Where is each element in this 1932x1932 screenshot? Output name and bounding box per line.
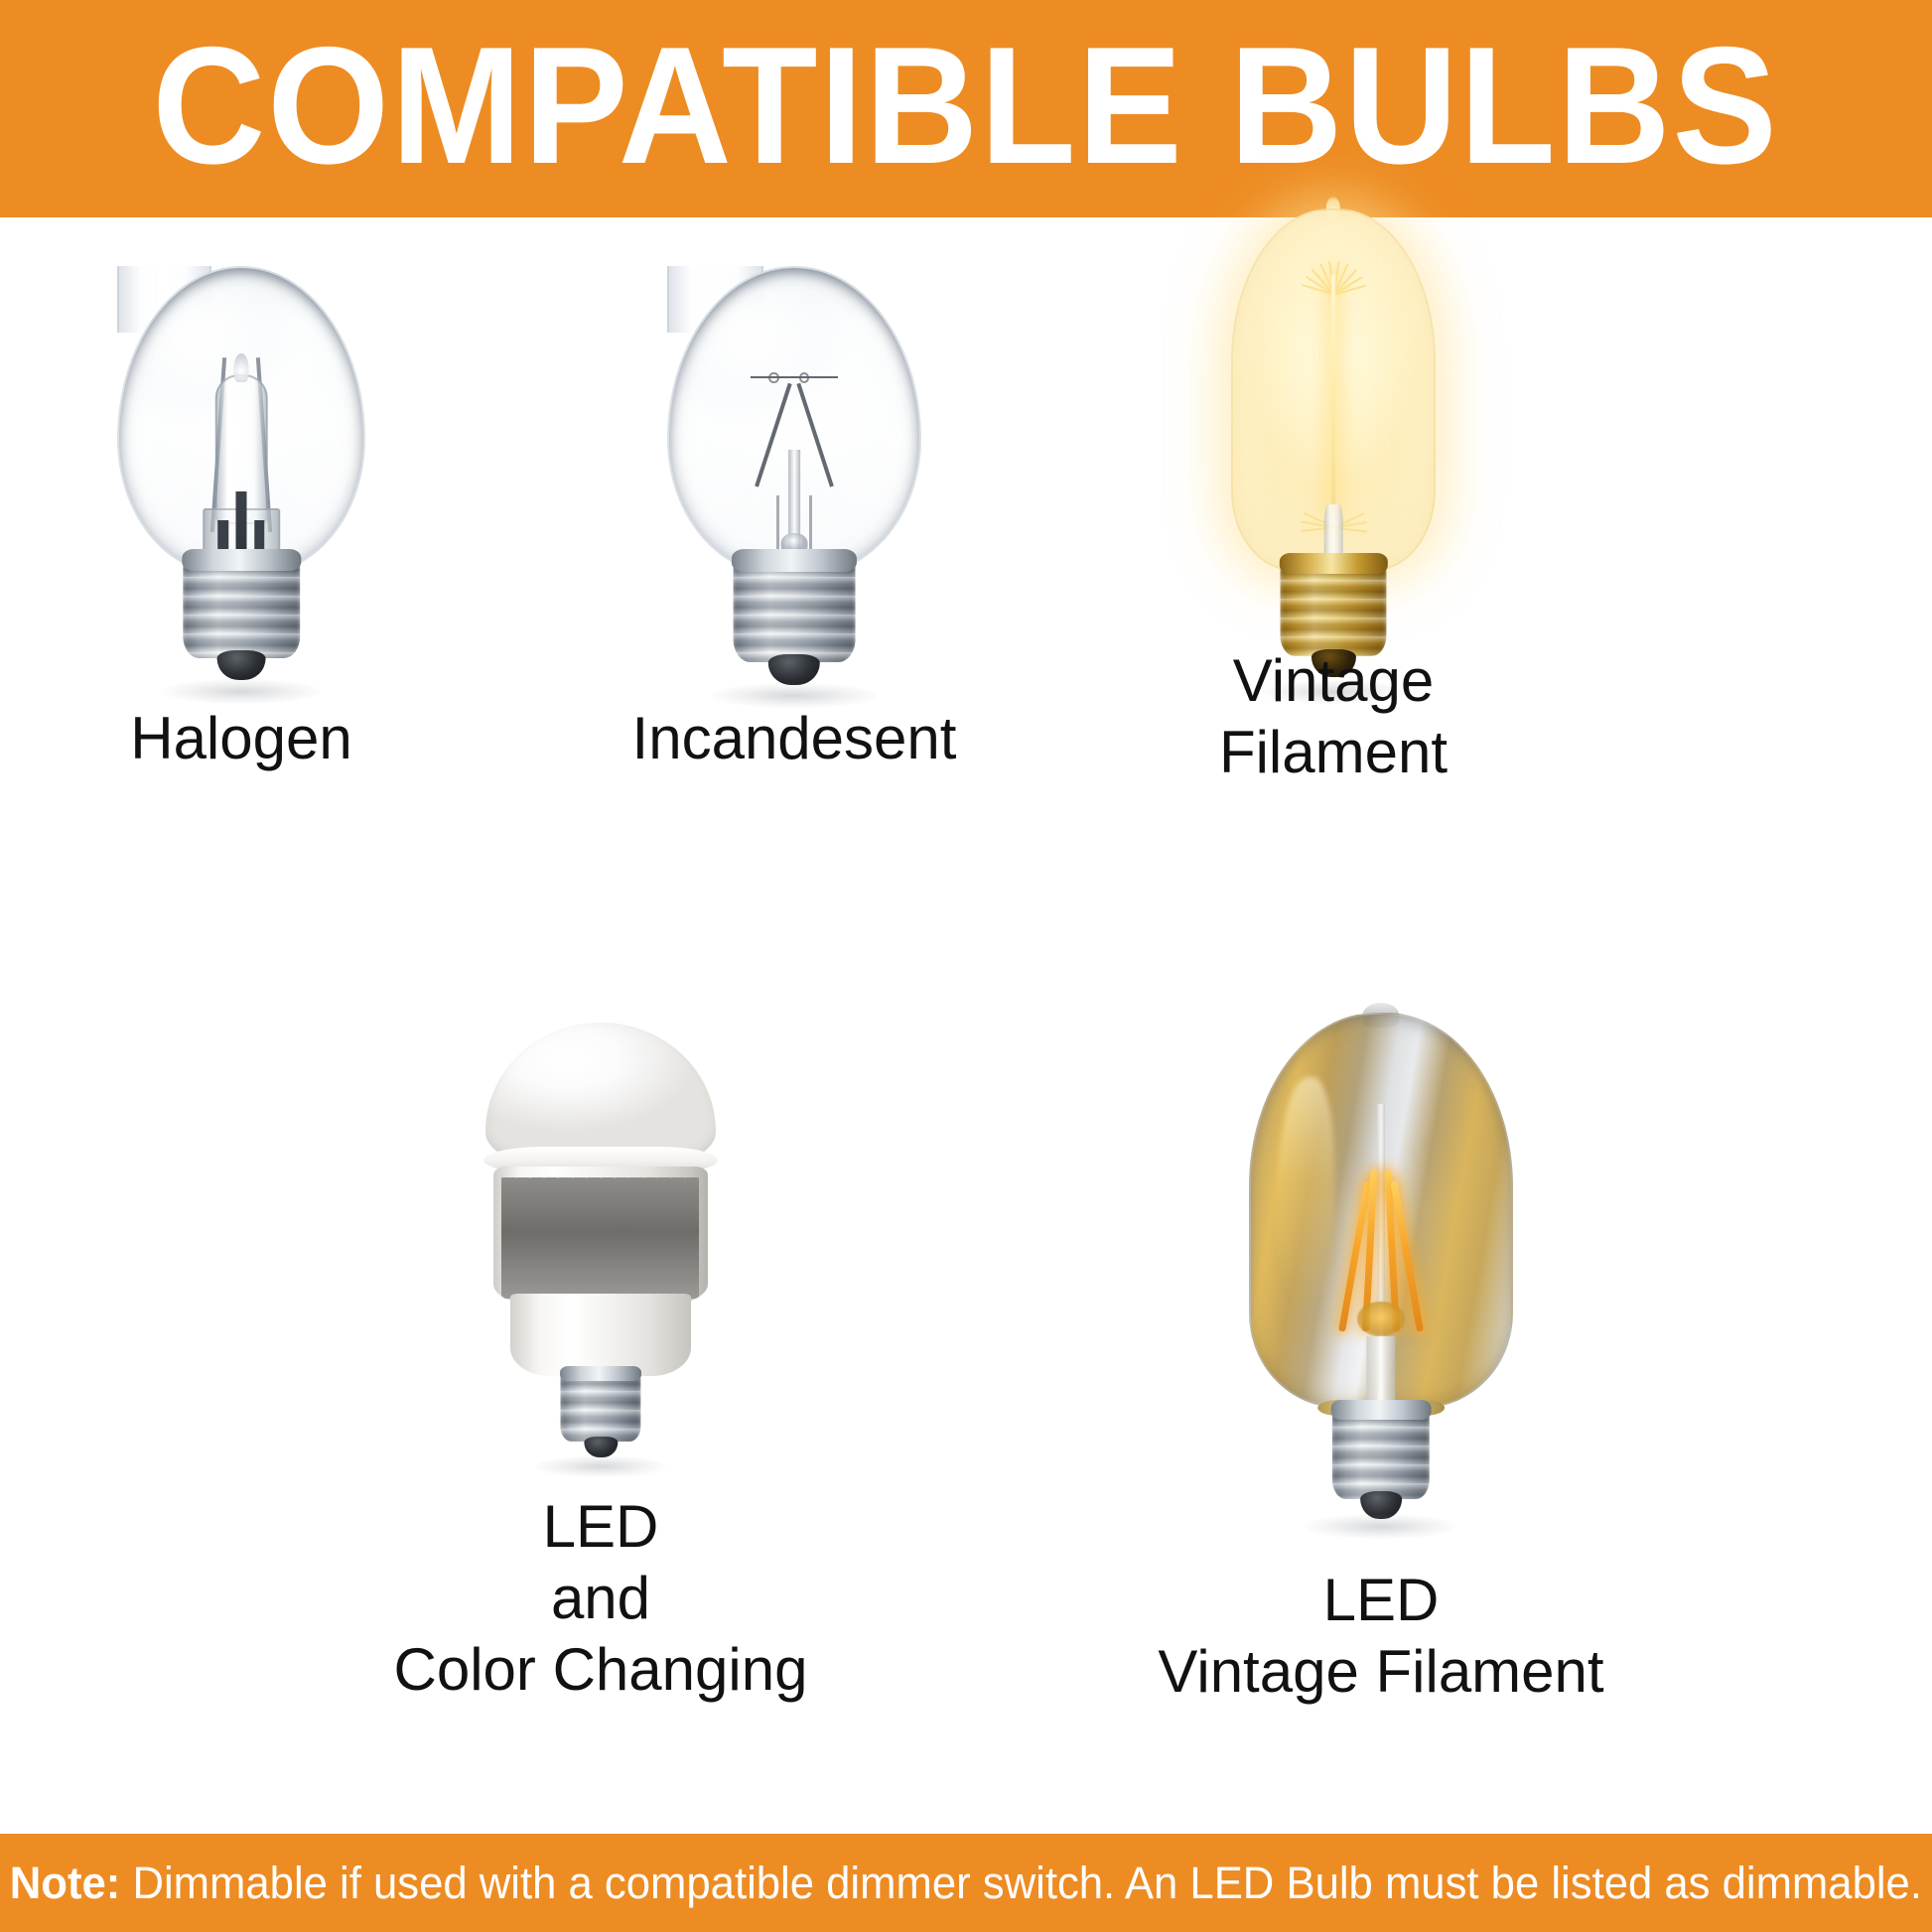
- header-band: COMPATIBLE BULBS: [0, 0, 1932, 217]
- incandescent-base-contact-tip: [768, 654, 820, 686]
- bulb-card-led: LED and Color Changing: [479, 1023, 723, 1459]
- bulb-label-incandescent: Incandesent: [566, 703, 1023, 774]
- bulb-label-halogen: Halogen: [13, 703, 470, 774]
- led-frosted-dome: [485, 1023, 715, 1163]
- incandescent-filament-top-wire: [751, 376, 837, 378]
- led-bulb-icon: [479, 1023, 723, 1459]
- note-body: Dimmable if used with a compatible dimme…: [120, 1858, 1922, 1908]
- compatible-bulbs-poster: COMPATIBLE BULBS Halogen: [0, 0, 1932, 1932]
- bulb-card-led-vintage-filament: LED Vintage Filament: [1249, 1013, 1513, 1519]
- halogen-drop-shadow: [162, 679, 321, 704]
- led-heatsink-fins: [501, 1177, 699, 1298]
- led-base-collar: [560, 1366, 642, 1381]
- bulb-label-led-vintage-filament: LED Vintage Filament: [1153, 1565, 1609, 1708]
- led-drop-shadow: [535, 1455, 667, 1477]
- led-vintage-drop-shadow: [1305, 1514, 1457, 1540]
- incandescent-filament-coil: [768, 372, 778, 383]
- bulb-label-vintage-filament: Vintage Filament: [1105, 645, 1562, 788]
- incandescent-base-collar: [732, 549, 856, 572]
- led-lower-body: [510, 1294, 691, 1377]
- note-band: Note: Dimmable if used with a compatible…: [0, 1834, 1932, 1932]
- incandescent-screw-base: [734, 558, 856, 662]
- led-vintage-base-collar: [1331, 1400, 1431, 1420]
- halogen-base-contact-tip: [216, 650, 265, 680]
- bulb-card-halogen: Halogen: [117, 266, 365, 683]
- vintage-filament-gold-screw-base: [1280, 561, 1386, 656]
- led-screw-base: [560, 1372, 640, 1442]
- page-title: COMPATIBLE BULBS: [153, 22, 1779, 197]
- incandescent-bulb-icon: [667, 266, 921, 683]
- led-vintage-filament-hub: [1357, 1302, 1405, 1337]
- led-vintage-glass-highlight: [1277, 1077, 1334, 1311]
- halogen-screw-base: [183, 558, 300, 658]
- halogen-capsule-tip: [234, 353, 249, 382]
- bulb-label-led: LED and Color Changing: [372, 1491, 829, 1706]
- led-vintage-screw-base: [1332, 1408, 1430, 1499]
- vintage-filament-base-collar: [1279, 553, 1387, 574]
- vintage-filament-glowing-core: [1331, 275, 1335, 513]
- vintage-filament-bulb-icon: [1231, 208, 1436, 685]
- bulb-card-incandescent: Incandesent: [667, 266, 921, 683]
- halogen-bulb-icon: [117, 266, 365, 683]
- halogen-base-collar: [182, 549, 301, 571]
- led-heatsink: [493, 1167, 708, 1307]
- note-label: Note:: [10, 1858, 121, 1908]
- bulb-card-vintage-filament: Vintage Filament: [1231, 208, 1436, 685]
- note-text: Note: Dimmable if used with a compatible…: [10, 1859, 1922, 1908]
- led-vintage-filament-bulb-icon: [1249, 1013, 1513, 1519]
